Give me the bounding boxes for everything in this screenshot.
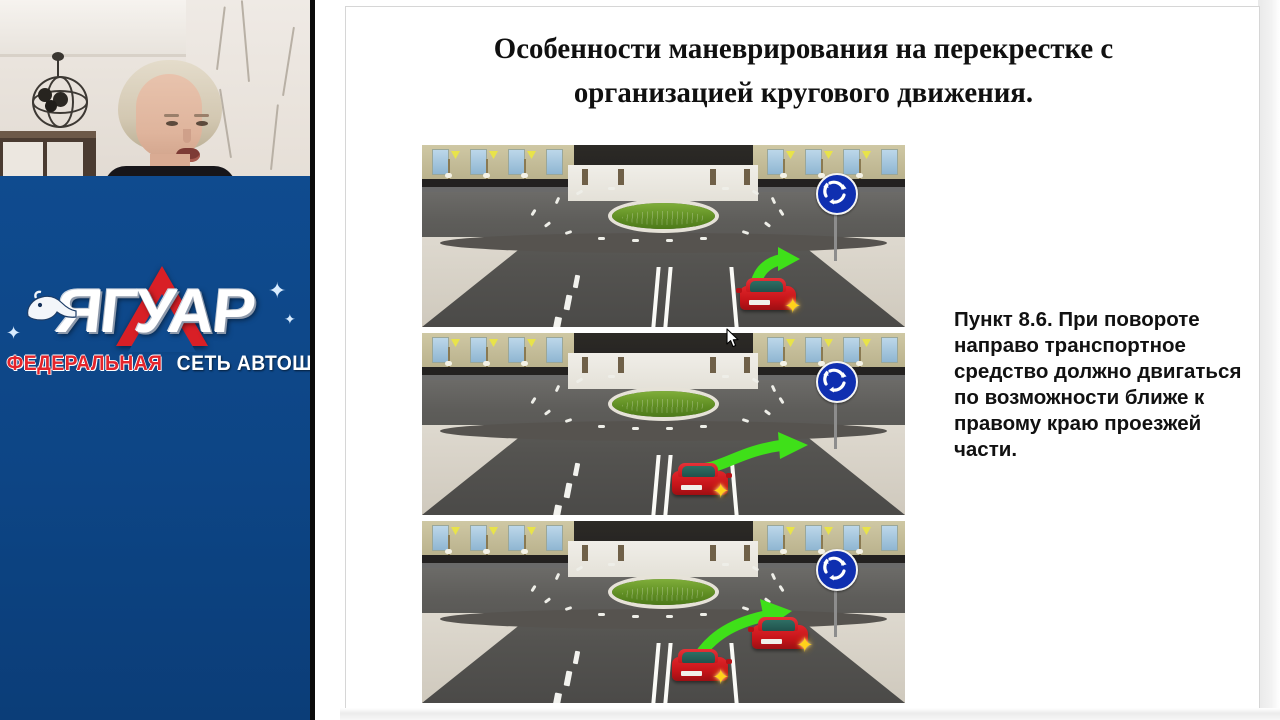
lane-dash [632,239,639,242]
window [805,525,822,551]
lane-dash [608,187,615,190]
webcam-video-feed[interactable] [0,0,310,176]
roundabout-figure-3[interactable]: ✦ ✦ [422,521,905,703]
window [767,337,784,363]
window [508,337,525,363]
roundabout-carriageway [440,421,887,441]
roundabout-mandatory-sign [816,549,858,591]
window [508,149,525,175]
window [805,149,822,175]
logo-tagline: ФЕДЕРАЛЬНАЯ СЕТЬ АВТОШКОЛ [0,352,310,376]
street-lamp-head [856,173,863,178]
street-lamp-head [445,173,452,178]
window [881,525,898,551]
logo-wordmark-text: ЯГУАР [52,272,258,352]
roundabout-mandatory-sign [816,361,858,403]
furniture-panel [47,142,83,176]
island-grass-texture [622,211,705,225]
window [767,525,784,551]
window [470,149,487,175]
turn-signal-icon: ✦ [784,296,802,317]
plaza-post [618,169,624,185]
lane-dash [608,563,615,566]
car-rear-window [682,466,715,477]
turn-signal-icon: ✦ [712,667,730,688]
window [432,149,449,175]
autoschool-logo: ✦ ✦ ✦ ЯГУАР ФЕДЕРАЛЬНАЯ СЕТЬ АВТОШКОЛ [0,272,310,392]
window [881,337,898,363]
viewer-right-shade [1258,0,1280,720]
furniture-top [0,131,96,138]
furniture-panel [3,142,43,176]
lane-dash [722,187,729,190]
island-grass-texture [622,399,705,413]
lane-dash [666,615,673,618]
car-mirror-left [748,627,754,632]
eye-left [166,121,178,126]
background-plaza [568,541,758,577]
plaza-post [744,545,750,561]
eye-right [196,121,208,126]
car-mirror-left [736,288,742,293]
lane-dash [700,237,707,240]
car-red-left: ✦ [672,649,728,683]
street-lamp-head [856,361,863,366]
turn-signal-icon: ✦ [796,635,814,656]
presenter-column: ✦ ✦ ✦ ЯГУАР ФЕДЕРАЛЬНАЯ СЕТЬ АВТОШКОЛ [0,0,310,720]
lane-dash [598,237,605,240]
window [432,337,449,363]
eyebrow-right [194,114,209,117]
presenter-face [136,74,202,158]
window [508,525,525,551]
lane-dash [700,425,707,428]
car-mirror-right [726,473,732,478]
car-red: ✦ [740,278,796,312]
lamp-rod [57,56,59,78]
window [881,149,898,175]
lane-dash [666,239,673,242]
window [843,149,860,175]
street-lamp-head [445,361,452,366]
plaza-post [582,545,588,561]
plaza-post [582,357,588,373]
car-rear-window [682,652,715,663]
window [767,149,784,175]
lane-dash [722,375,729,378]
car-licence-plate [761,639,782,644]
lane-dash [598,425,605,428]
window [432,525,449,551]
car-rear-window [750,281,783,292]
street-lamp-head [780,361,787,366]
window [546,525,563,551]
roundabout-carriageway [440,233,887,253]
plaza-post [710,169,716,185]
lane-dash [608,375,615,378]
car-licence-plate [681,671,702,676]
eyebrow-left [164,114,179,117]
turn-signal-icon: ✦ [712,481,730,502]
plaza-post [618,545,624,561]
lane-dash [632,427,639,430]
background-plaza [568,165,758,201]
street-lamp-head [780,549,787,554]
plaza-post [618,357,624,373]
window [805,337,822,363]
sign-pole [834,399,837,449]
street-lamp-head [856,549,863,554]
roundabout-figure-1[interactable]: ✦ [422,145,905,327]
car-red: ✦ [672,463,728,497]
roundabout-figure-2[interactable]: ✦ [422,333,905,515]
lane-dash [666,427,673,430]
mouse-pointer [726,328,739,348]
street-lamp-head [521,361,528,366]
figure-stack: ✦ [422,145,905,709]
street-lamp-head [521,173,528,178]
car-mirror-right [726,659,732,664]
presenter-shoulders [104,166,236,176]
sign-pole [834,587,837,637]
street-lamp-head [780,173,787,178]
slide-title-line-2: организацией кругового движения. [412,71,1194,115]
slide-title-line-1: Особенности маневрирования на перекрестк… [412,27,1194,71]
presentation-slide[interactable]: Особенности маневрирования на перекрестк… [345,6,1260,709]
plaza-post [744,169,750,185]
window [546,337,563,363]
page-title: Особенности маневрирования на перекрестк… [412,27,1194,115]
logo-tagline-red: ФЕДЕРАЛЬНАЯ [7,352,163,376]
window [470,337,487,363]
lamp-bulb [45,100,57,112]
window [470,525,487,551]
car-red-right: ✦ [752,617,808,651]
logo-tagline-white: СЕТЬ АВТОШКОЛ [177,352,310,376]
plaza-post [710,357,716,373]
background-plaza [568,353,758,389]
jaguar-silhouette-icon [24,286,82,332]
plaza-post [744,357,750,373]
lane-dash [722,563,729,566]
slide-body-text: Пункт 8.6. При повороте направо транспор… [954,307,1254,463]
plaza-post [582,169,588,185]
sparkle-icon: ✦ [6,324,21,342]
lane-dash [598,613,605,616]
window [843,525,860,551]
sign-pole [834,211,837,261]
roundabout-carriageway [440,609,887,629]
window [843,337,860,363]
street-lamp-head [445,549,452,554]
car-rear-window [762,620,795,631]
street-lamp-head [483,173,490,178]
plaza-post [710,545,716,561]
car-licence-plate [681,485,702,490]
lane-dash [632,615,639,618]
street-lamp-head [483,361,490,366]
window [546,149,563,175]
sparkle-icon: ✦ [268,280,286,302]
presenter-figure [118,60,222,176]
slide-bottom-shade [340,708,1280,720]
street-lamp-head [483,549,490,554]
sparkle-icon: ✦ [284,312,296,326]
nose [183,129,191,143]
app-window: ✦ ✦ ✦ ЯГУАР ФЕДЕРАЛЬНАЯ СЕТЬ АВТОШКОЛ Ос… [0,0,1280,720]
car-licence-plate [749,300,770,305]
roundabout-mandatory-sign [816,173,858,215]
street-lamp-head [521,549,528,554]
brand-panel: ✦ ✦ ✦ ЯГУАР ФЕДЕРАЛЬНАЯ СЕТЬ АВТОШКОЛ [0,176,310,720]
